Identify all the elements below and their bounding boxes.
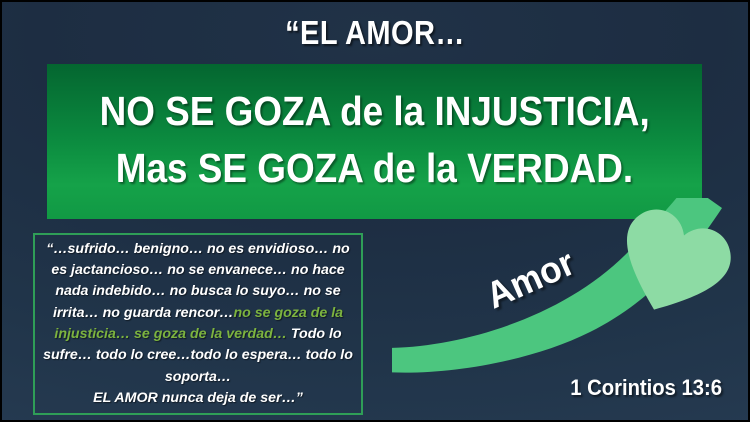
- verse-line-2: Mas SE GOZA de la VERDAD.: [116, 140, 633, 197]
- scripture-reference: 1 Corintios 13:6: [570, 375, 722, 401]
- slide-title: “EL AMOR…: [47, 16, 703, 49]
- slide-canvas: “EL AMOR… NO SE GOZA de la INJUSTICIA, M…: [0, 0, 750, 422]
- quote-box: “…sufrido… benigno… no es envidioso… no …: [33, 233, 363, 415]
- amor-label: Amor: [480, 242, 581, 318]
- heart-shape: [604, 201, 739, 330]
- quote-part-3: EL AMOR nunca deja de ser…”: [93, 390, 303, 406]
- heart-swoosh-artwork: [392, 198, 750, 373]
- verse-line-1: NO SE GOZA de la INJUSTICIA,: [99, 83, 649, 140]
- heart-icon: [392, 198, 750, 373]
- quote-text: “…sufrido… benigno… no es envidioso… no …: [42, 239, 354, 409]
- verse-banner: NO SE GOZA de la INJUSTICIA, Mas SE GOZA…: [47, 64, 702, 219]
